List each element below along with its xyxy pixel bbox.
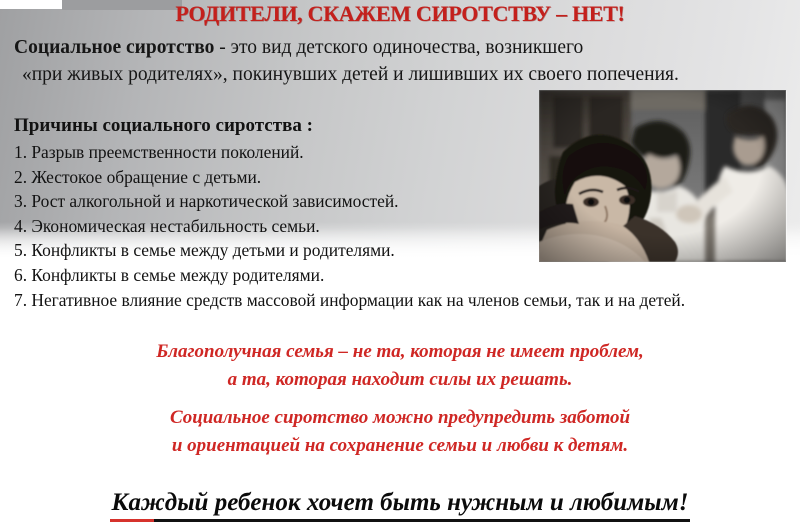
- cause-item-3: 3. Рост алкогольной и наркотической зави…: [14, 189, 574, 214]
- slogan-underline: [110, 519, 691, 522]
- causes-heading: Причины социального сиротства :: [14, 113, 574, 139]
- cause-item-1: 1. Разрыв преемственности поколений.: [14, 140, 574, 165]
- photo-graphic: [539, 90, 786, 262]
- slogan-text-wrapper: Каждый ребенок хочет быть нужным и любим…: [110, 488, 691, 522]
- quote-2-line-1: Социальное сиротство можно предупредить …: [0, 404, 800, 432]
- quote-block-2: Социальное сиротство можно предупредить …: [0, 404, 800, 460]
- definition-line2: «при живых родителях», покинувших детей …: [14, 61, 786, 88]
- slogan-text: Каждый ребенок хочет быть нужным и любим…: [112, 489, 689, 516]
- slogan-underline-accent: [110, 519, 154, 522]
- quote-1-line-1: Благополучная семья – не та, которая не …: [0, 338, 800, 366]
- family-conflict-photo: [539, 90, 786, 262]
- quote-2-line-2: и ориентацией на сохранение семьи и любв…: [0, 432, 800, 460]
- poster-title: РОДИТЕЛИ, СКАЖЕМ СИРОТСТВУ – НЕТ!: [0, 1, 800, 27]
- cause-item-6: 6. Конфликты в семье между родителями.: [14, 263, 574, 288]
- cause-item-7: 7. Негативное влияние средств массовой и…: [14, 288, 794, 313]
- definition-line1-rest: - это вид детского одиночества, возникше…: [214, 37, 583, 58]
- definition-term: Социальное сиротство: [14, 37, 214, 58]
- poster-canvas: РОДИТЕЛИ, СКАЖЕМ СИРОТСТВУ – НЕТ! Социал…: [0, 0, 800, 530]
- cause-item-2: 2. Жестокое обращение с детьми.: [14, 165, 574, 190]
- quote-block-1: Благополучная семья – не та, которая не …: [0, 338, 800, 394]
- bottom-slogan: Каждый ребенок хочет быть нужным и любим…: [0, 488, 800, 522]
- cause-item-5: 5. Конфликты в семье между детьми и роди…: [14, 238, 574, 263]
- quote-1-line-2: а та, которая находит силы их решать.: [0, 366, 800, 394]
- cause-item-4: 4. Экономическая нестабильность семьи.: [14, 214, 574, 239]
- definition-block: Социальное сиротство - это вид детского …: [14, 34, 786, 88]
- causes-block: Причины социального сиротства : 1. Разры…: [14, 113, 574, 312]
